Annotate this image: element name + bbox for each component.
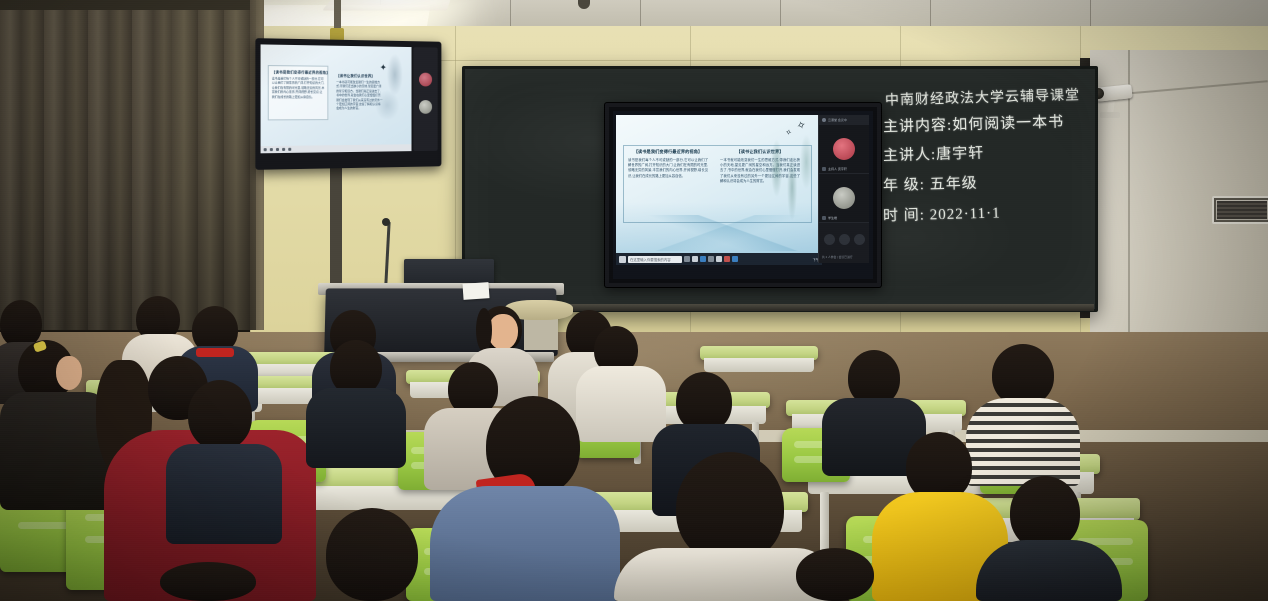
conference-controls[interactable] bbox=[819, 234, 869, 245]
participant-tile[interactable]: 学生端 bbox=[819, 174, 869, 223]
blackboard: 【读书是我们变得行最近界的视角】 读书是我们每个人不可或缺的一部分,它可以让我们… bbox=[462, 66, 1098, 312]
meeting-icon[interactable] bbox=[732, 256, 738, 262]
mail-icon[interactable] bbox=[708, 256, 714, 262]
participant-avatar bbox=[419, 73, 432, 87]
muted-mic-icon bbox=[822, 167, 826, 171]
mini-slide-left-body: 读书是我们每个人不可或缺的一部分,它可以让我们了解世界的广阔,打开知识的大门,让… bbox=[272, 76, 325, 99]
taskview-icon[interactable] bbox=[684, 256, 690, 262]
conference-sidebar[interactable]: 云课堂 会议中 主持人 唐宇轩 学生端 bbox=[818, 115, 869, 263]
camera-base bbox=[1100, 112, 1120, 118]
wall-monitor-sidebar bbox=[413, 47, 437, 151]
blackboard-line-3: 主讲人:唐宇轩 bbox=[883, 142, 985, 166]
classroom-photo: 【读书是我们变得行最近界的视角】 读书是我们每个人不可或缺的一部分,它可以让我们… bbox=[0, 0, 1268, 601]
search-input[interactable]: 在这里输入你要搜索的内容 bbox=[628, 256, 682, 263]
wall-monitor[interactable]: 【读书是我们变得行最近界的视角】 读书是我们每个人不可或缺的一部分,它可以让我们… bbox=[255, 38, 441, 170]
video-button[interactable] bbox=[839, 234, 850, 245]
blackboard-line-5: 时 间: 2022·11·1 bbox=[883, 201, 1001, 225]
avatar bbox=[833, 187, 855, 209]
swallow-icon: ✦ bbox=[380, 62, 387, 73]
smart-display[interactable]: 【读书是我们变得行最近界的视角】 读书是我们每个人不可或缺的一部分,它可以让我们… bbox=[605, 103, 881, 287]
swallow-icon: ✧ bbox=[785, 128, 793, 137]
conference-status-icon bbox=[822, 118, 826, 122]
slide-left-heading: 【读书是我们变得行最近界的视角】 bbox=[628, 149, 708, 155]
edge-icon[interactable] bbox=[700, 256, 706, 262]
start-icon[interactable] bbox=[619, 256, 626, 263]
windows-taskbar[interactable]: 在这里输入你要搜索的内容 下午 bbox=[616, 253, 822, 265]
paper-sheet bbox=[462, 282, 489, 300]
side-table-leg bbox=[524, 316, 558, 350]
wall-monitor-screen: 【读书是我们变得行最近界的视角】 读书是我们每个人不可或缺的一部分,它可以让我们… bbox=[261, 44, 412, 153]
slide-left-body: 读书是我们每个人不可或缺的一部分,它可以让我们了解世界的广阔,打开知识的大门,让… bbox=[628, 158, 708, 179]
ppt-icon[interactable] bbox=[724, 256, 730, 262]
store-icon[interactable] bbox=[716, 256, 722, 262]
mute-button[interactable] bbox=[824, 234, 835, 245]
smart-display-screen: 【读书是我们变得行最近界的视角】 读书是我们每个人不可或缺的一部分,它可以让我们… bbox=[613, 111, 873, 279]
blackboard-line-4: 年 级: 五年级 bbox=[883, 172, 978, 196]
participant-name: 学生端 bbox=[828, 216, 837, 220]
participant-name-row: 主持人 唐宇轩 bbox=[822, 167, 847, 171]
conference-footer: 共 2 人参会 | 会议已进行 bbox=[822, 255, 853, 259]
microphone-head-icon bbox=[382, 218, 390, 226]
curtain-rail bbox=[0, 0, 250, 10]
slide-text-box-left: 【读书是我们变得行最近界的视角】 读书是我们每个人不可或缺的一部分,它可以让我们… bbox=[628, 149, 708, 179]
explorer-icon[interactable] bbox=[692, 256, 698, 262]
curtain-shadow bbox=[0, 0, 256, 330]
avatar bbox=[833, 138, 855, 160]
muted-mic-icon bbox=[822, 216, 826, 220]
tv-stand bbox=[330, 168, 342, 286]
wall-air-vent bbox=[1212, 196, 1268, 224]
desk-leg bbox=[820, 492, 829, 552]
participant-name: 主持人 唐宇轩 bbox=[828, 167, 847, 171]
ceiling-light-secondary bbox=[322, 0, 453, 11]
conference-title: 云课堂 会议中 bbox=[828, 118, 847, 122]
participant-tile[interactable]: 主持人 唐宇轩 bbox=[819, 125, 869, 174]
participant-avatar bbox=[419, 100, 432, 114]
more-button[interactable] bbox=[854, 234, 865, 245]
mini-taskbar bbox=[261, 144, 412, 153]
conference-header: 云课堂 会议中 bbox=[819, 115, 869, 125]
participant-name-row: 学生端 bbox=[822, 216, 837, 220]
desk-front bbox=[704, 358, 814, 372]
presentation-slide: 【读书是我们变得行最近界的视角】 读书是我们每个人不可或缺的一部分,它可以让我们… bbox=[616, 115, 822, 265]
mini-slide-left-heading: 【读书是我们变得行最近界的视角】 bbox=[272, 69, 327, 75]
